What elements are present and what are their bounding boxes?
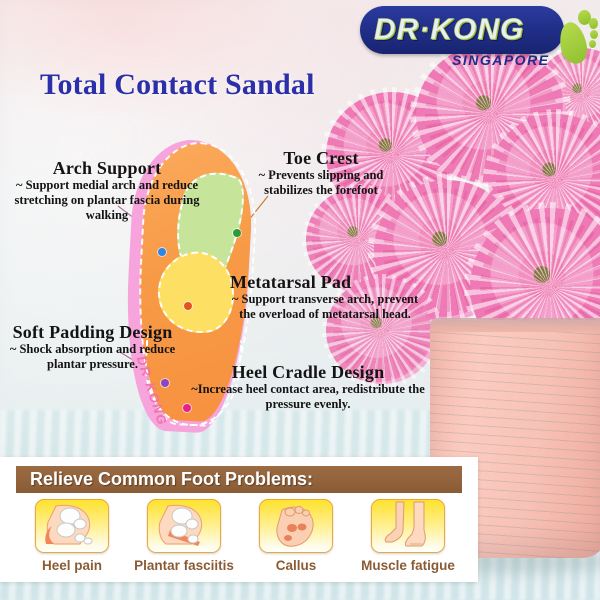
callout-description: ~ Prevents slipping and stabilizes the f… [236,168,406,198]
marker-dot-arch-support [158,248,166,256]
callout-description: ~ Support transverse arch, prevent the o… [230,292,420,322]
panel-heading-bar: Relieve Common Foot Problems: [16,466,462,493]
foot-sole-callus-icon [259,499,333,553]
marker-dot-soft-padding [161,379,169,387]
footprint-toe [589,18,598,29]
callout-title: Arch Support [12,158,202,178]
two-legs-icon [371,499,445,553]
foot-problems-panel: Relieve Common Foot Problems: Heel pain [0,457,478,582]
callout-metatarsal-pad: Metatarsal Pad ~ Support transverse arch… [230,272,420,322]
footprint-toe [590,30,598,39]
foot-problem-label: Muscle fatigue [361,558,455,573]
foot-skeleton-arch-icon [147,499,221,553]
foot-skeleton-heel-icon [35,499,109,553]
brand-logo: DR·KONG SINGAPORE [360,4,596,74]
callout-title: Toe Crest [236,148,406,168]
callout-description: ~Increase heel contact area, redistribut… [188,382,428,412]
panel-heading-text: Relieve Common Foot Problems: [30,469,313,490]
callout-soft-padding-design: Soft Padding Design ~ Shock absorption a… [0,322,185,372]
marker-dot-toe-crest [233,229,241,237]
green-footprint-icon [556,6,598,68]
footprint-toe [589,40,596,48]
flower-pot-rim [430,318,600,332]
callout-toe-crest: Toe Crest ~ Prevents slipping and stabil… [236,148,406,198]
foot-problem-label: Callus [276,558,317,573]
foot-problem-label: Heel pain [42,558,102,573]
foot-problem-card[interactable]: Plantar fasciitis [128,499,240,575]
foot-problem-card[interactable]: Callus [240,499,352,575]
callout-heel-cradle-design: Heel Cradle Design ~Increase heel contac… [188,362,428,412]
callout-title: Soft Padding Design [0,322,185,342]
foot-problem-card[interactable]: Muscle fatigue [352,499,464,575]
logo-subtitle: SINGAPORE [452,52,550,68]
callout-description: ~ Support medial arch and reduce stretch… [12,178,202,223]
marker-dot-metatarsal-pad [184,302,192,310]
callout-title: Metatarsal Pad [230,272,420,292]
callout-title: Heel Cradle Design [188,362,428,382]
foot-problem-label: Plantar fasciitis [134,558,234,573]
callout-description: ~ Shock absorption and reduce plantar pr… [0,342,185,372]
callout-arch-support: Arch Support ~ Support medial arch and r… [12,158,202,223]
footprint-sole [556,20,590,66]
poster-canvas: DR·KONG SINGAPORE Total Contact Sandal D… [0,0,600,600]
page-title: Total Contact Sandal [40,68,315,102]
foot-problem-card-list: Heel pain Plantar fasciitis [16,499,466,575]
logo-wordmark: DR·KONG [374,12,554,48]
foot-problem-card[interactable]: Heel pain [16,499,128,575]
